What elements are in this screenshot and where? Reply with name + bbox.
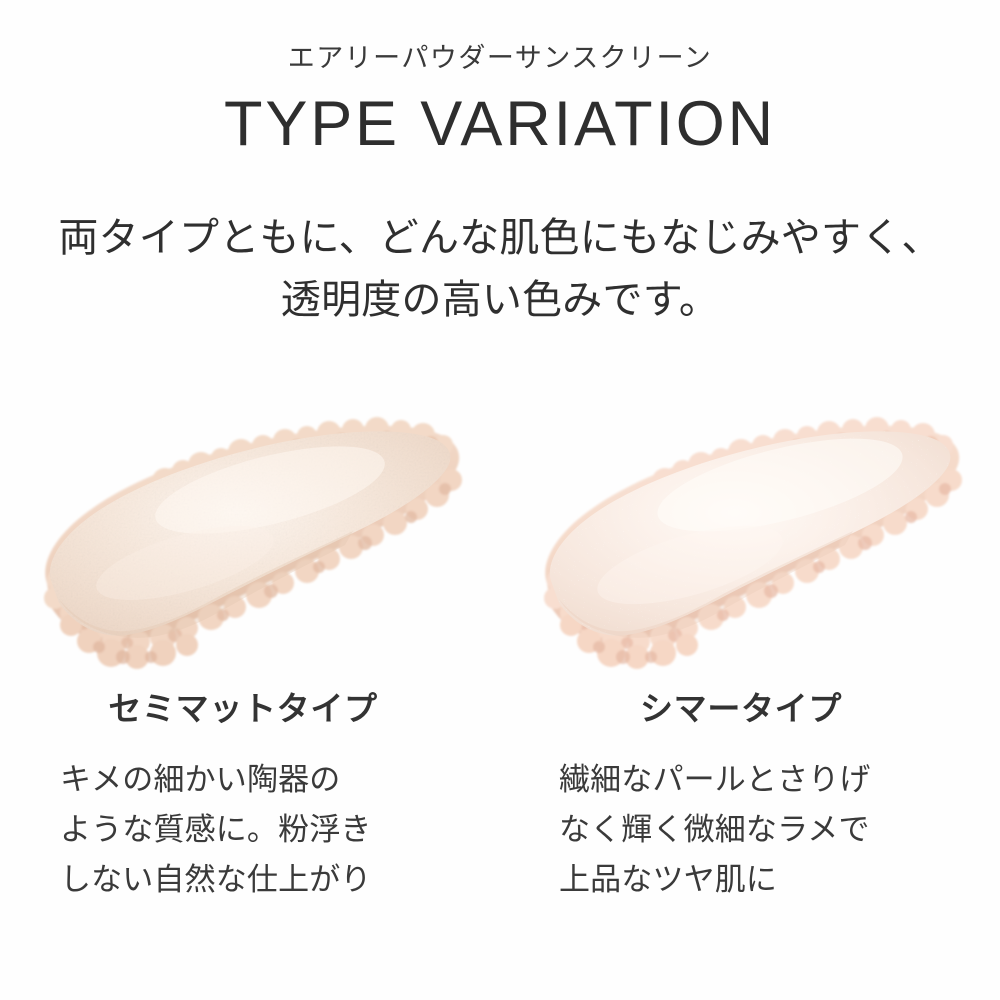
type-description-semi-matte: キメの細かい陶器の ような質感に。粉浮き しない自然な仕上がり <box>40 755 460 906</box>
semi-matte-swatch-container <box>15 385 485 675</box>
lead-description: 両タイプともに、どんな肌色にもなじみやすく、 透明度の高い色みです。 <box>0 207 1000 331</box>
desc-line-2: なく輝く微細なラメで <box>559 805 959 855</box>
desc-line-3: しない自然な仕上がり <box>60 855 460 905</box>
product-infographic-page: エアリーパウダーサンスクリーン TYPE VARIATION 両タイプともに、ど… <box>0 0 1000 1000</box>
desc-line-3: 上品なツヤ肌に <box>559 855 959 905</box>
page-title: TYPE VARIATION <box>0 88 1000 160</box>
product-subtitle: エアリーパウダーサンスクリーン <box>0 42 1000 74</box>
header: エアリーパウダーサンスクリーン TYPE VARIATION <box>0 0 1000 161</box>
desc-line-1: キメの細かい陶器の <box>60 755 460 805</box>
shimmer-powder-swatch <box>515 385 985 675</box>
type-label-semi-matte: セミマットタイプ <box>108 689 391 729</box>
desc-line-1: 繊細なパールとさりげ <box>559 755 959 805</box>
desc-line-2: ような質感に。粉浮き <box>60 805 460 855</box>
type-column-shimmer: シマータイプ 繊細なパールとさりげ なく輝く微細なラメで 上品なツヤ肌に <box>500 385 1000 905</box>
lead-line-1: 両タイプともに、どんな肌色にもなじみやすく、 <box>0 207 1000 269</box>
type-label-shimmer: シマータイプ <box>640 689 860 729</box>
type-column-semi-matte: セミマットタイプ キメの細かい陶器の ような質感に。粉浮き しない自然な仕上がり <box>0 385 500 905</box>
lead-line-2: 透明度の高い色みです。 <box>0 269 1000 331</box>
shimmer-swatch-container <box>515 385 985 675</box>
type-comparison-columns: セミマットタイプ キメの細かい陶器の ような質感に。粉浮き しない自然な仕上がり <box>0 385 1000 905</box>
type-description-shimmer: 繊細なパールとさりげ なく輝く微細なラメで 上品なツヤ肌に <box>541 755 959 906</box>
semi-matte-powder-swatch <box>15 385 485 675</box>
